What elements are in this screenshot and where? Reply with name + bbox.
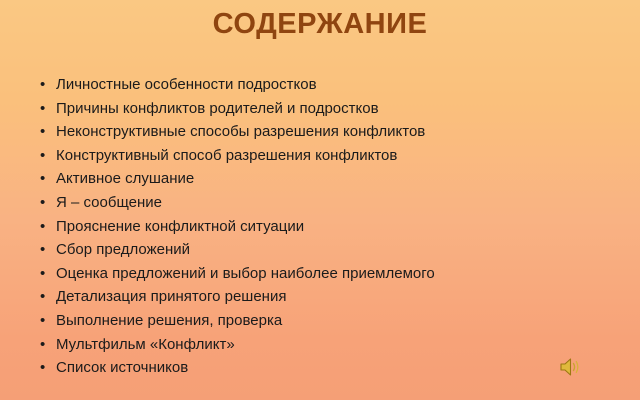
contents-list: • Личностные особенности подростков • Пр… [34, 73, 624, 380]
bullet-icon: • [40, 333, 50, 357]
list-item[interactable]: • Список источников [34, 356, 624, 380]
bullet-icon: • [40, 309, 50, 333]
list-item[interactable]: • Мультфильм «Конфликт» [34, 333, 624, 357]
bullet-icon: • [40, 97, 50, 121]
bullet-icon: • [40, 167, 50, 191]
bullet-icon: • [40, 238, 50, 262]
page-title: СОДЕРЖАНИЕ [0, 7, 640, 41]
list-item[interactable]: • Личностные особенности подростков [34, 73, 624, 97]
list-item-label: Выполнение решения, проверка [56, 309, 282, 333]
list-item[interactable]: • Прояснение конфликтной ситуации [34, 215, 624, 239]
list-item-label: Конструктивный способ разрешения конфлик… [56, 144, 397, 168]
list-item-label: Сбор предложений [56, 238, 190, 262]
list-item[interactable]: • Выполнение решения, проверка [34, 309, 624, 333]
bullet-icon: • [40, 144, 50, 168]
list-item[interactable]: • Причины конфликтов родителей и подрост… [34, 97, 624, 121]
list-item[interactable]: • Оценка предложений и выбор наиболее пр… [34, 262, 624, 286]
list-item[interactable]: • Я – сообщение [34, 191, 624, 215]
list-item-label: Неконструктивные способы разрешения конф… [56, 120, 425, 144]
list-item[interactable]: • Сбор предложений [34, 238, 624, 262]
list-item-label: Личностные особенности подростков [56, 73, 317, 97]
list-item[interactable]: • Неконструктивные способы разрешения ко… [34, 120, 624, 144]
bullet-icon: • [40, 191, 50, 215]
list-item[interactable]: • Конструктивный способ разрешения конфл… [34, 144, 624, 168]
presentation-slide: СОДЕРЖАНИЕ • Личностные особенности подр… [0, 0, 640, 400]
list-item[interactable]: • Детализация принятого решения [34, 285, 624, 309]
bullet-icon: • [40, 285, 50, 309]
bullet-icon: • [40, 262, 50, 286]
list-item-label: Мультфильм «Конфликт» [56, 333, 235, 357]
list-item[interactable]: • Активное слушание [34, 167, 624, 191]
bullet-icon: • [40, 356, 50, 380]
list-item-label: Оценка предложений и выбор наиболее прие… [56, 262, 435, 286]
speaker-sound-icon[interactable] [558, 355, 584, 379]
list-item-label: Детализация принятого решения [56, 285, 286, 309]
list-item-label: Причины конфликтов родителей и подростко… [56, 97, 379, 121]
bullet-icon: • [40, 215, 50, 239]
list-item-label: Я – сообщение [56, 191, 162, 215]
bullet-icon: • [40, 120, 50, 144]
bullet-icon: • [40, 73, 50, 97]
list-item-label: Прояснение конфликтной ситуации [56, 215, 304, 239]
list-item-label: Активное слушание [56, 167, 194, 191]
list-item-label: Список источников [56, 356, 188, 380]
